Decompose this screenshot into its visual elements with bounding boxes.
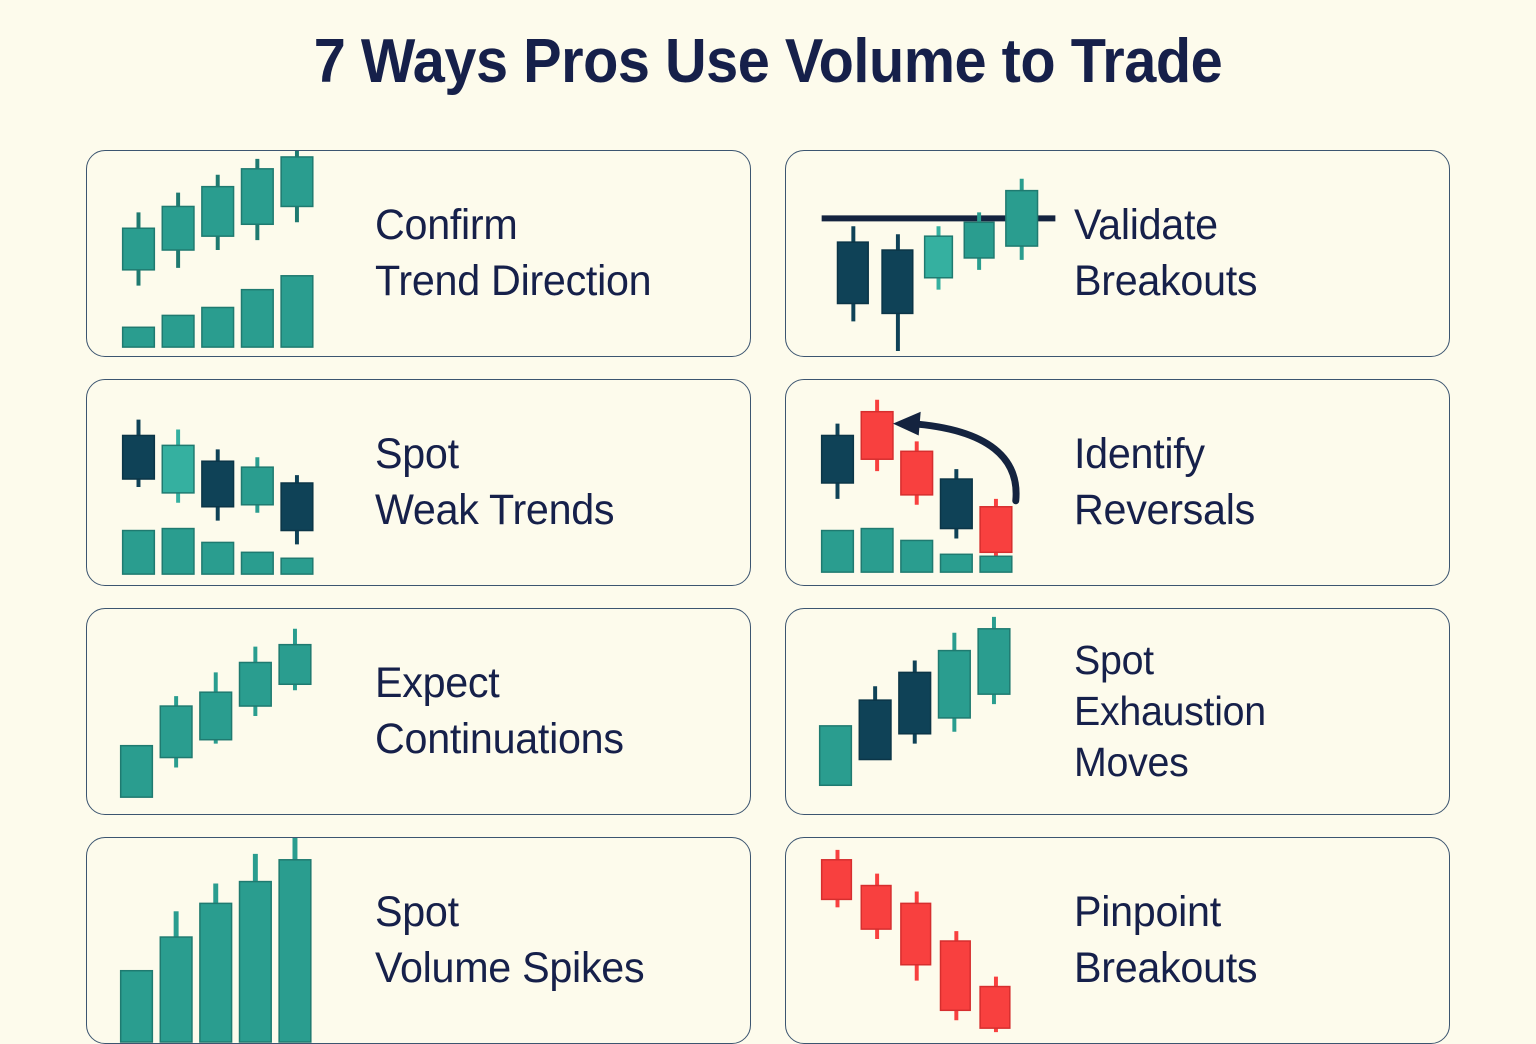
label-line: Volume Spikes <box>375 941 727 996</box>
chart-spot-exhaustion-moves <box>786 609 1076 814</box>
label-line: Spot <box>1074 635 1426 686</box>
card-label-pinpoint-breakouts: Pinpoint Breakouts <box>1074 838 1426 1043</box>
card-pinpoint-breakouts[interactable]: Pinpoint Breakouts <box>785 837 1450 1044</box>
card-spot-weak-trends[interactable]: Spot Weak Trends <box>86 379 751 586</box>
card-label-identify-reversals: Identify Reversals <box>1074 380 1426 585</box>
chart-spot-weak-trends <box>87 380 377 585</box>
label-line: Validate <box>1074 198 1426 253</box>
chart-identify-reversals <box>786 380 1076 585</box>
card-validate-breakouts[interactable]: Validate Breakouts <box>785 150 1450 357</box>
label-line: Pinpoint <box>1074 885 1426 940</box>
card-label-validate-breakouts: Validate Breakouts <box>1074 151 1426 356</box>
label-line: Exhaustion <box>1074 686 1426 737</box>
label-line: Breakouts <box>1074 941 1426 996</box>
label-line: Spot <box>375 885 727 940</box>
card-confirm-trend-direction[interactable]: Confirm Trend Direction <box>86 150 751 357</box>
chart-validate-breakouts <box>786 151 1076 356</box>
card-label-spot-volume-spikes: Spot Volume Spikes <box>375 838 727 1043</box>
card-label-spot-weak-trends: Spot Weak Trends <box>375 380 727 585</box>
label-line: Expect <box>375 656 727 711</box>
label-line: Identify <box>1074 427 1426 482</box>
chart-expect-continuations <box>87 609 377 814</box>
cards-grid: Confirm Trend Direction <box>86 150 1450 1030</box>
label-line: Moves <box>1074 737 1426 788</box>
card-label-confirm-trend-direction: Confirm Trend Direction <box>375 151 727 356</box>
card-spot-volume-spikes[interactable]: Spot Volume Spikes <box>86 837 751 1044</box>
page-title: 7 Ways Pros Use Volume to Trade <box>54 26 1482 97</box>
label-line: Breakouts <box>1074 254 1426 309</box>
card-label-expect-continuations: Expect Continuations <box>375 609 727 814</box>
label-line: Reversals <box>1074 483 1426 538</box>
card-identify-reversals[interactable]: Identify Reversals <box>785 379 1450 586</box>
card-spot-exhaustion-moves[interactable]: Spot Exhaustion Moves <box>785 608 1450 815</box>
card-label-spot-exhaustion-moves: Spot Exhaustion Moves <box>1074 609 1426 814</box>
label-line: Trend Direction <box>375 254 727 309</box>
chart-spot-volume-spikes <box>87 838 377 1043</box>
card-expect-continuations[interactable]: Expect Continuations <box>86 608 751 815</box>
label-line: Confirm <box>375 198 727 253</box>
label-line: Spot <box>375 427 727 482</box>
label-line: Weak Trends <box>375 483 727 538</box>
chart-confirm-trend-direction <box>87 151 377 356</box>
chart-pinpoint-breakouts <box>786 838 1076 1043</box>
label-line: Continuations <box>375 712 727 767</box>
